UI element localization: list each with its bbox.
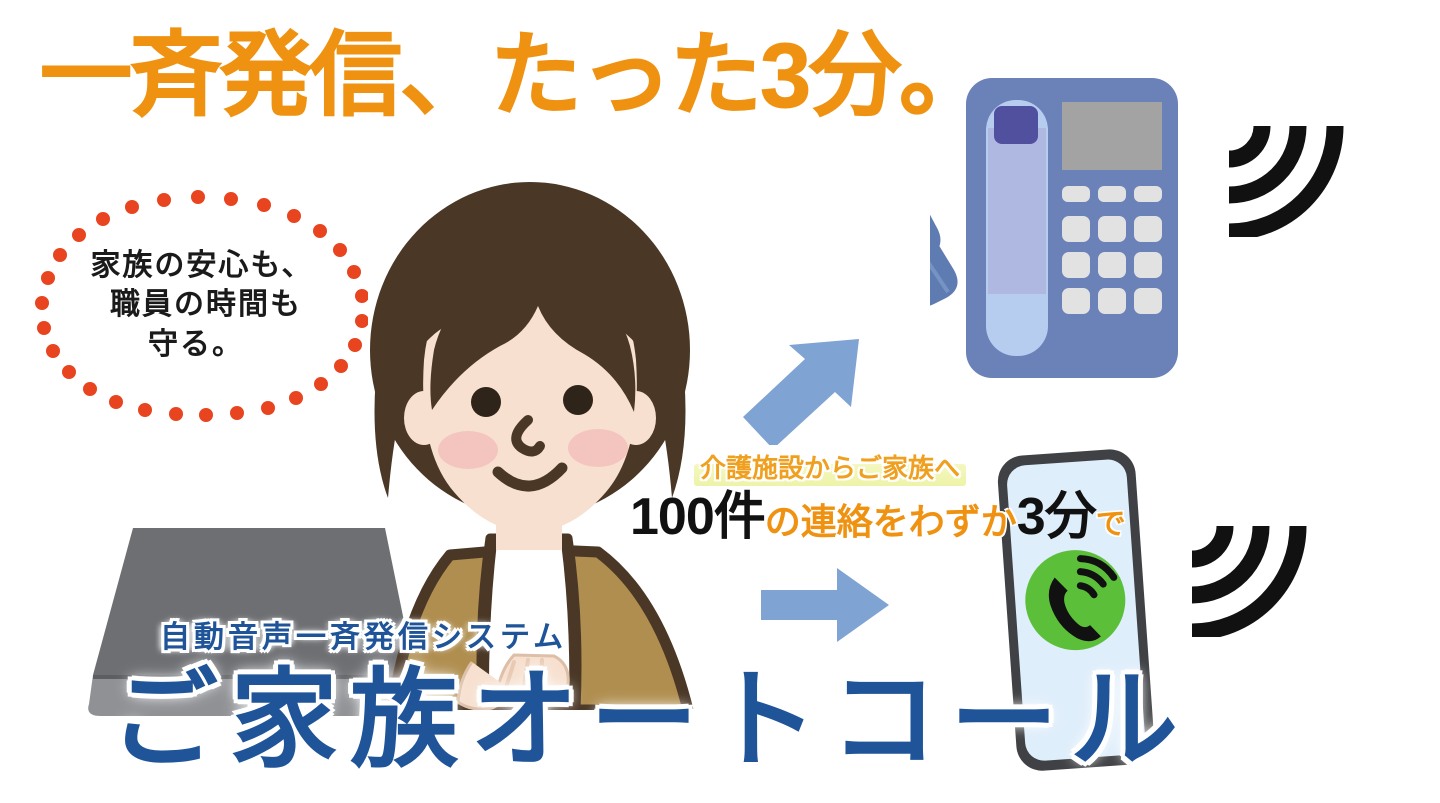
product-subtitle: 自動音声一斉発信システム	[160, 612, 567, 656]
signal-waves-bottom	[1178, 512, 1308, 637]
dotted-oval-callout: 家族の安心も、 職員の時間も 守る。	[28, 185, 368, 425]
phone-lcd	[1062, 102, 1162, 170]
page-title: 一斉発信、たった3分。	[40, 28, 989, 125]
callout-line-2: 職員の時間も	[110, 285, 302, 325]
flow-arrow-up	[735, 335, 870, 445]
eye-left	[471, 387, 501, 417]
eye-right	[563, 385, 593, 415]
count-tail: で	[1096, 510, 1126, 540]
signal-waves-top	[1215, 112, 1345, 237]
cheek-left	[438, 431, 498, 469]
highlight-text: 介護施設からご家族へ	[700, 453, 960, 483]
count-line: 100件 の連絡をわずか 3分 で	[630, 491, 1030, 543]
callout-line-1: 家族の安心も、	[90, 246, 313, 286]
phone-indicator	[994, 106, 1038, 144]
count-middle: の連絡をわずか	[765, 504, 1017, 540]
callout-text: 家族の安心も、 職員の時間も 守る。	[28, 185, 368, 425]
phone-keypad	[1062, 216, 1162, 314]
poster-canvas: 一斉発信、たった3分。 家族の安心も、	[0, 0, 1440, 803]
phone-softkeys	[1062, 186, 1162, 202]
mid-copy-block: 介護施設からご家族へ 100件 の連絡をわずか 3分 で	[630, 448, 1030, 543]
cheek-right	[568, 429, 628, 467]
callout-line-3: 守る。	[148, 325, 244, 365]
count-minutes: 3分	[1017, 491, 1096, 543]
highlight-line: 介護施設からご家族へ	[694, 448, 966, 487]
product-title: ご家族オートコール	[110, 655, 1190, 785]
flow-arrow-right	[755, 560, 895, 650]
count-number: 100件	[630, 491, 765, 543]
